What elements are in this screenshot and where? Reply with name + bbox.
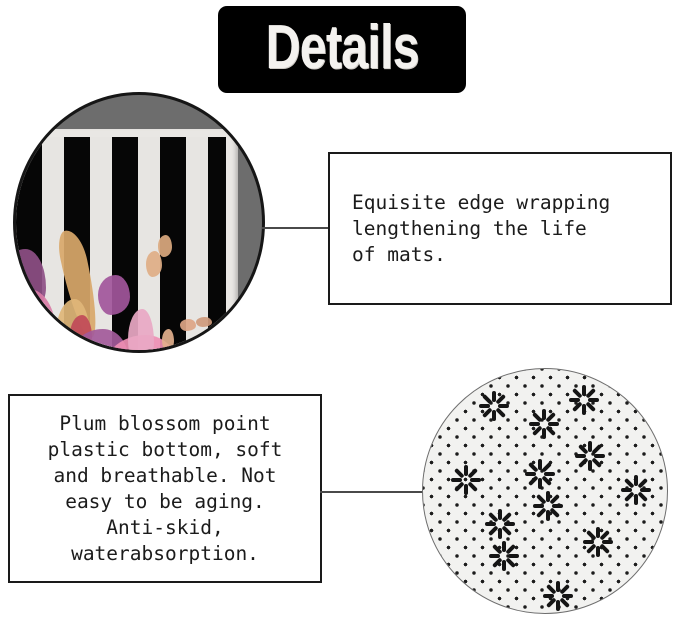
plum-blossom-rosette — [531, 489, 565, 523]
mat-body — [13, 129, 238, 353]
callout-edge-wrapping: Equisite edge wrapping lengthening the l… — [328, 152, 672, 305]
plum-blossom-rosette — [619, 473, 653, 507]
callout-edge-wrapping-text: Equisite edge wrapping lengthening the l… — [330, 190, 670, 268]
plum-blossom-rosette — [527, 407, 561, 441]
callout-plastic-bottom-text: Plum blossom point plastic bottom, soft … — [10, 411, 320, 567]
connector-line-top — [262, 227, 330, 229]
connector-line-bottom — [320, 491, 430, 493]
plum-blossom-rosette — [477, 389, 511, 423]
details-title-badge: Details — [218, 6, 466, 93]
plum-blossom-rosette — [487, 539, 521, 573]
plum-blossom-rosette — [541, 579, 575, 613]
plum-blossom-rosette — [581, 525, 615, 559]
plum-blossom-rosette — [523, 457, 557, 491]
photo-striped-mat — [13, 92, 265, 353]
callout-plastic-bottom: Plum blossom point plastic bottom, soft … — [8, 394, 322, 583]
plum-blossom-rosette — [567, 383, 601, 417]
plum-blossom-rosette — [573, 439, 607, 473]
page-title: Details — [265, 17, 418, 83]
plum-blossom-rosette — [449, 463, 483, 497]
product-details-infographic: Details Equisite edge wrapping le — [0, 0, 679, 618]
plum-blossom-rosette — [483, 507, 517, 541]
photo-antiskid-backing — [422, 368, 668, 614]
